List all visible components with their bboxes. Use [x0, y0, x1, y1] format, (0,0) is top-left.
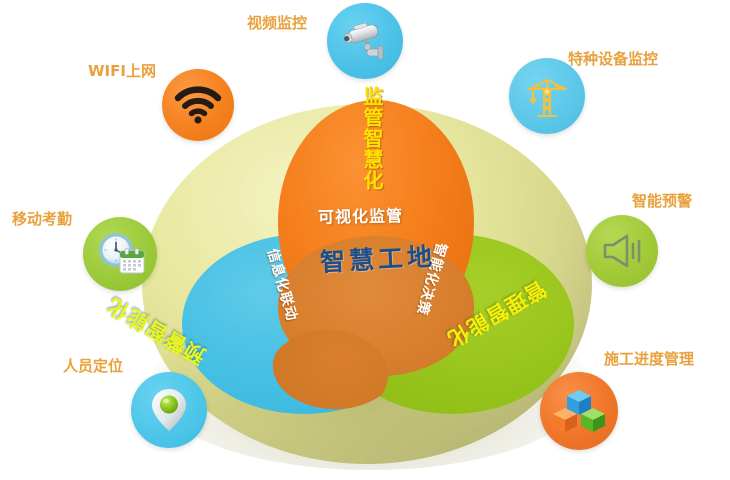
node-bubble-special-equipment[interactable]: [509, 58, 585, 134]
node-bubble-video-surveillance[interactable]: [327, 3, 403, 79]
wifi-icon: [174, 84, 222, 126]
node-label-smart-alert: 智能预警: [632, 190, 692, 211]
node-bubble-smart-alert[interactable]: [586, 215, 658, 287]
node-label-special-equipment: 特种设备监控: [568, 48, 658, 69]
node-bubble-wifi-internet[interactable]: [162, 69, 234, 141]
node-bubble-progress-management[interactable]: [540, 372, 618, 450]
node-bubble-mobile-attendance[interactable]: [83, 217, 157, 291]
map-pin-icon: [144, 383, 194, 437]
node-label-personnel-positioning: 人员定位: [63, 355, 123, 376]
node-label-progress-management: 施工进度管理: [604, 348, 694, 369]
blocks-icon: [550, 382, 608, 440]
lobe-label-top: 监管智慧化: [354, 86, 384, 191]
node-label-mobile-attendance: 移动考勤: [12, 208, 72, 229]
node-bubble-personnel-positioning[interactable]: [131, 372, 207, 448]
crane-icon: [520, 69, 574, 123]
node-label-wifi-internet: WIFI上网: [88, 60, 156, 81]
loudspeaker-icon: [598, 229, 646, 273]
infographic-canvas: 监管智慧化 可视化监管 信息化联动 智能化决策 智慧工地 预警智能化 管理智能化…: [0, 0, 730, 480]
clock-calendar-icon: [92, 228, 148, 280]
diagram-center-title: 智慧工地: [319, 237, 437, 279]
overlap-label-top: 可视化监管: [318, 202, 403, 227]
security-camera-icon: [337, 13, 393, 69]
node-label-video-surveillance: 视频监控: [247, 12, 307, 33]
